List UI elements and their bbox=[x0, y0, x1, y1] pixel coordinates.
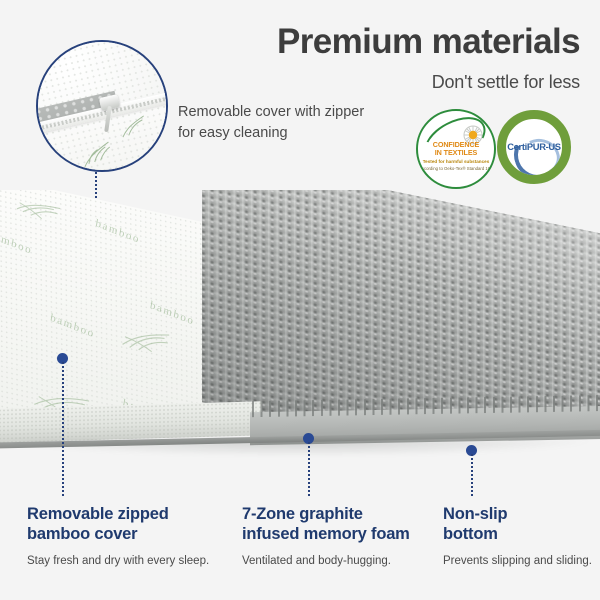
connector-line-memory-foam bbox=[308, 442, 310, 496]
connector-line-bamboo-cover bbox=[62, 362, 64, 496]
feature-bamboo-cover: Removable zipped bamboo cover Stay fresh… bbox=[27, 505, 227, 569]
oeko-title-line2: IN TEXTILES bbox=[435, 148, 477, 157]
feature-memory-foam: 7-Zone graphite infused memory foam Vent… bbox=[242, 505, 437, 569]
mattress-drop-shadow bbox=[10, 440, 590, 456]
feature-3-caption: Prevents slipping and sliding. bbox=[443, 554, 593, 569]
badge-certipur-us: CertiPUR-US bbox=[497, 110, 571, 184]
feature-2-caption: Ventilated and body-hugging. bbox=[242, 554, 437, 569]
feature-3-title-line2: bottom bbox=[443, 525, 498, 543]
callout-line-1: Removable cover with zipper bbox=[178, 102, 393, 123]
feature-3-title-line1: Non-slip bbox=[443, 505, 507, 523]
cover-edge-texture bbox=[0, 401, 262, 442]
page-subtitle: Don't settle for less bbox=[240, 72, 580, 93]
badge-oeko-tex: CONFIDENCE IN TEXTILES Tested for harmfu… bbox=[416, 109, 496, 189]
feature-1-title: Removable zipped bamboo cover bbox=[27, 505, 227, 545]
product-feature-graphic: Premium materials Don't settle for less bbox=[0, 0, 600, 600]
page-title: Premium materials bbox=[200, 24, 580, 61]
feature-1-title-line1: Removable zipped bbox=[27, 505, 169, 523]
feature-2-title-line2: infused memory foam bbox=[242, 525, 410, 543]
zipper-detail-photo bbox=[36, 40, 168, 172]
cover-front-edge bbox=[0, 401, 262, 442]
certipur-label: CertiPUR-US bbox=[506, 141, 562, 152]
feature-3-title: Non-slip bottom bbox=[443, 505, 593, 545]
connector-line-non-slip bbox=[471, 454, 473, 496]
oeko-title: CONFIDENCE IN TEXTILES bbox=[418, 141, 494, 158]
feature-non-slip-bottom: Non-slip bottom Prevents slipping and sl… bbox=[443, 505, 593, 569]
feature-1-title-line2: bamboo cover bbox=[27, 525, 137, 543]
feature-2-title-line1: 7-Zone graphite bbox=[242, 505, 363, 523]
zipper-callout-label: Removable cover with zipper for easy cle… bbox=[178, 102, 393, 143]
feature-1-caption: Stay fresh and dry with every sleep. bbox=[27, 554, 227, 569]
oeko-subtitle: Tested for harmful substances bbox=[418, 159, 494, 165]
feature-2-title: 7-Zone graphite infused memory foam bbox=[242, 505, 437, 545]
mattress-topper-image: bamboo bamboo bamboo bamboo bamboo bbox=[0, 190, 600, 480]
callout-line-2: for easy cleaning bbox=[178, 123, 393, 144]
oeko-standard: according to Oeko-Tex® Standard 100 bbox=[418, 166, 494, 172]
